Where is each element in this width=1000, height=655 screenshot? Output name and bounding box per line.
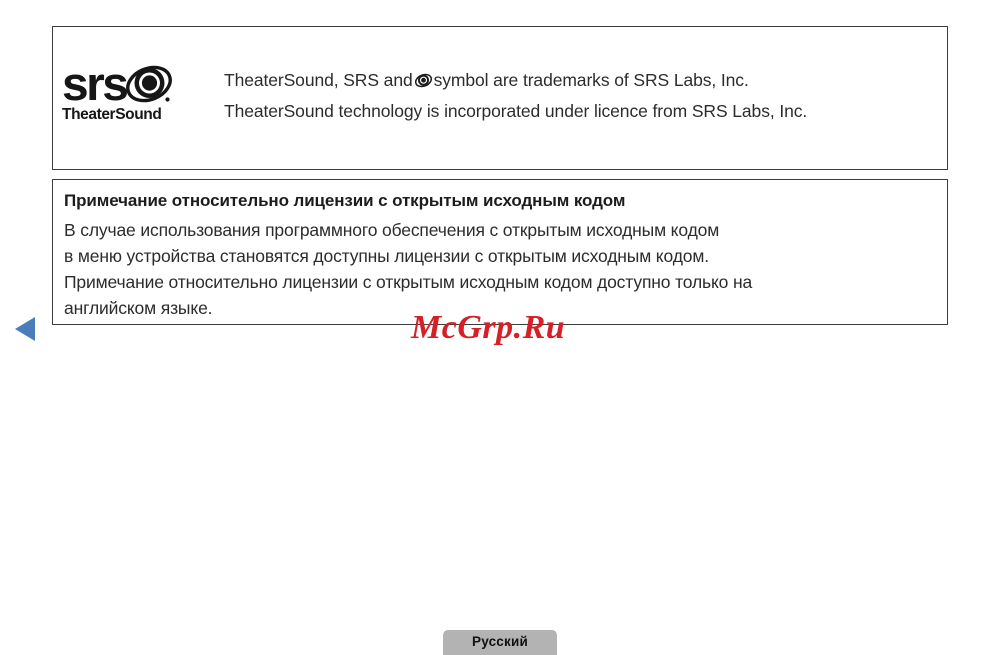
footer: Русский [0,630,1000,655]
licence-heading: Примечание относительно лицензии с откры… [64,188,937,214]
srs-logo-row: srs [62,63,210,105]
trademark-text-lines: TheaterSound, SRS andsymbol are trademar… [224,61,807,127]
trademark-notice-box: srs TheaterSound TheaterSound, SRS andsy… [52,26,948,170]
open-source-licence-box: Примечание относительно лицензии с откры… [52,179,948,325]
watermark: McGrp.Ru [411,308,565,348]
trademark-line-1-before: TheaterSound, SRS and [224,70,413,90]
language-badge: Русский [443,630,557,655]
srs-eye-icon [126,62,172,106]
licence-line-2: в меню устройства становятся доступны ли… [64,243,937,269]
licence-body: В случае использования программного обес… [64,217,937,321]
licence-line-1: В случае использования программного обес… [64,217,937,243]
srs-wordmark: srs [62,63,126,105]
trademark-line-1-after: symbol are trademarks of SRS Labs, Inc. [434,70,749,90]
triangle-left-icon[interactable] [14,316,36,342]
licence-line-3: Примечание относительно лицензии с откры… [64,269,937,295]
licence-content: Примечание относительно лицензии с откры… [64,188,937,321]
srs-theatersound-logo: srs TheaterSound [62,61,210,124]
trademark-content: srs TheaterSound TheaterSound, SRS andsy… [62,61,807,127]
srs-eye-icon-inline [415,68,432,85]
trademark-line-2: TheaterSound technology is incorporated … [224,96,807,127]
trademark-line-1: TheaterSound, SRS andsymbol are trademar… [224,65,807,96]
